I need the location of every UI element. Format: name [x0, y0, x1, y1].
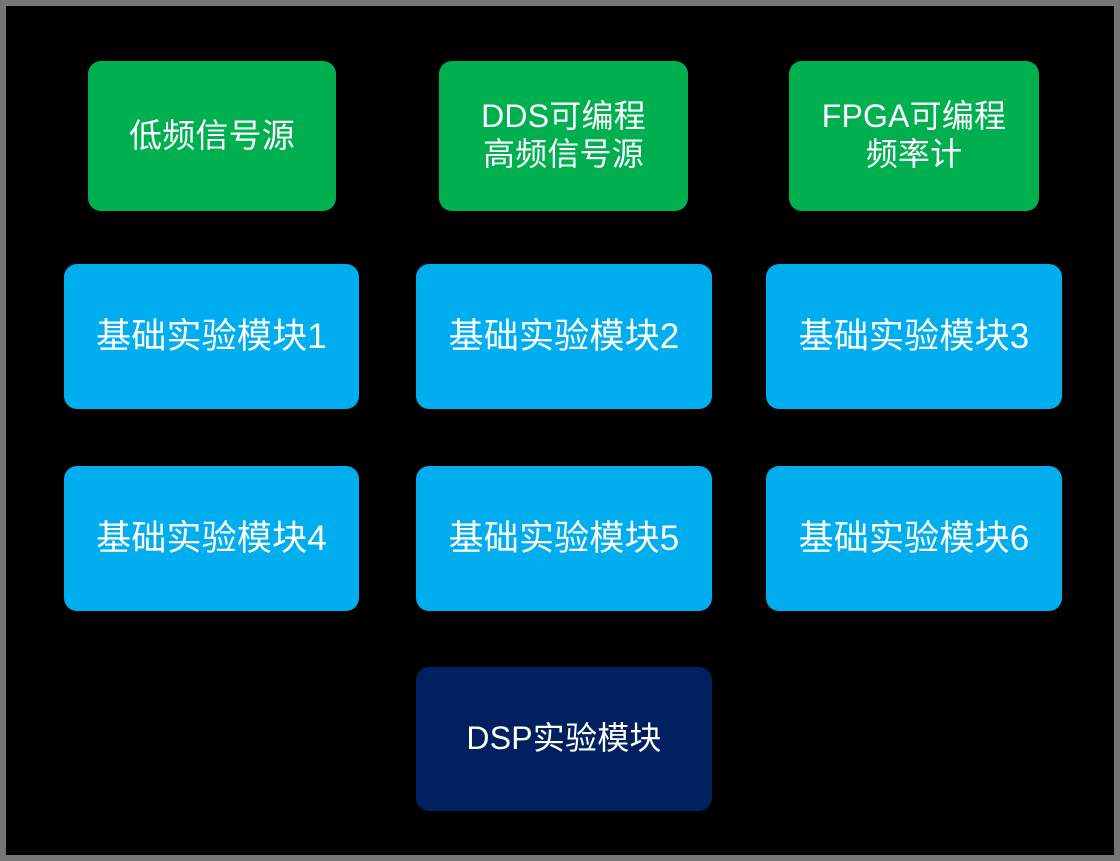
- node-basic-experiment-module-5[interactable]: 基础实验模块5: [416, 466, 712, 611]
- diagram-canvas: 低频信号源 DDS可编程 高频信号源 FPGA可编程 频率计 基础实验模块1 基…: [0, 0, 1120, 861]
- node-low-frequency-signal-source[interactable]: 低频信号源: [88, 61, 336, 211]
- node-label: 基础实验模块3: [799, 316, 1030, 357]
- node-basic-experiment-module-2[interactable]: 基础实验模块2: [416, 264, 712, 409]
- node-label: 基础实验模块2: [449, 316, 680, 357]
- node-basic-experiment-module-6[interactable]: 基础实验模块6: [766, 466, 1062, 611]
- node-dsp-experiment-module[interactable]: DSP实验模块: [416, 667, 712, 811]
- node-label: 基础实验模块5: [449, 518, 680, 559]
- node-fpga-programmable-frequency-counter[interactable]: FPGA可编程 频率计: [789, 61, 1039, 211]
- node-label: 基础实验模块6: [799, 518, 1030, 559]
- node-label: FPGA可编程 频率计: [822, 98, 1007, 174]
- node-basic-experiment-module-4[interactable]: 基础实验模块4: [64, 466, 359, 611]
- node-label: DSP实验模块: [466, 720, 661, 758]
- node-basic-experiment-module-3[interactable]: 基础实验模块3: [766, 264, 1062, 409]
- node-label: 基础实验模块1: [96, 316, 327, 357]
- node-label: 基础实验模块4: [96, 518, 327, 559]
- node-label: 低频信号源: [129, 117, 295, 156]
- node-label: DDS可编程 高频信号源: [481, 98, 646, 174]
- node-basic-experiment-module-1[interactable]: 基础实验模块1: [64, 264, 359, 409]
- node-dds-programmable-high-frequency-signal-source[interactable]: DDS可编程 高频信号源: [439, 61, 688, 211]
